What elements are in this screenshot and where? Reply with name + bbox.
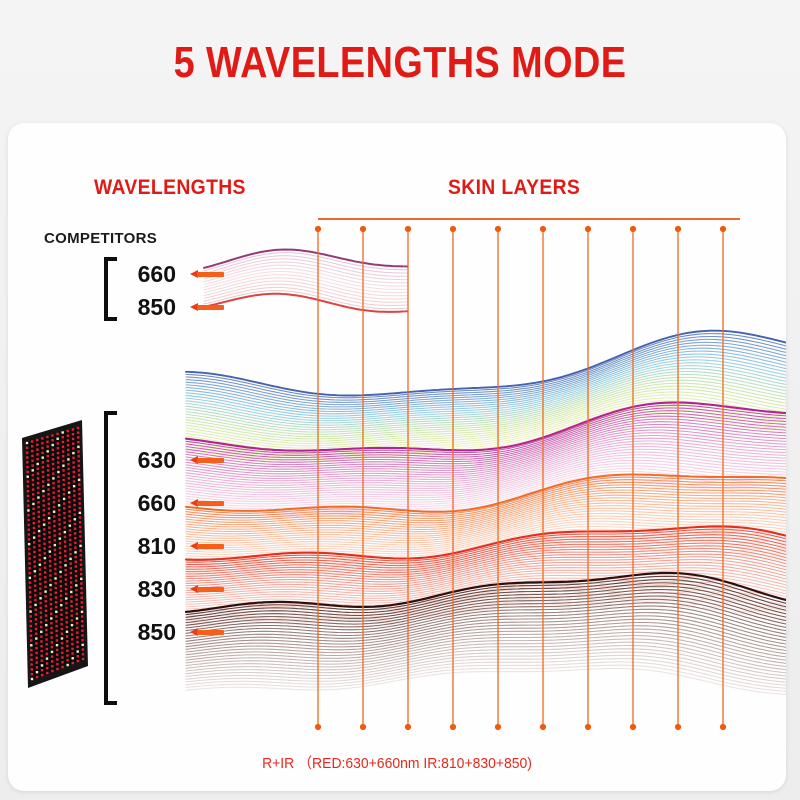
led-dot — [36, 453, 38, 455]
led-dot — [75, 579, 77, 581]
led-dot — [71, 614, 73, 616]
led-dot — [52, 472, 54, 474]
led-dot — [49, 584, 51, 586]
led-dot — [60, 613, 62, 615]
led-dot — [62, 465, 64, 467]
led-dot — [67, 430, 69, 432]
led-dot — [61, 628, 63, 630]
led-dot — [55, 601, 57, 603]
left-arrow-icon — [190, 270, 224, 278]
led-dot — [43, 528, 45, 530]
competitors-bracket-icon — [104, 257, 117, 321]
led-dot — [38, 535, 40, 537]
led-dot — [74, 537, 76, 539]
led-dot — [35, 613, 37, 615]
wavelength-value: 630 — [120, 447, 176, 473]
led-dot — [28, 562, 30, 564]
led-dot — [63, 483, 65, 485]
led-dot — [29, 596, 31, 598]
wavelength-row-card.product_wavelengths-850: 850 — [120, 619, 224, 645]
led-dot — [70, 596, 72, 598]
led-dot — [49, 579, 51, 581]
led-dot — [56, 634, 58, 636]
led-dot — [74, 546, 76, 548]
led-dot — [51, 439, 53, 441]
led-dot — [72, 461, 74, 463]
led-dot — [73, 466, 75, 468]
led-dot — [55, 587, 57, 589]
led-dot — [56, 668, 58, 670]
led-dot — [63, 479, 65, 481]
led-dot — [44, 552, 46, 554]
led-dot — [30, 639, 32, 641]
led-dot — [72, 433, 74, 435]
led-dot — [60, 594, 62, 596]
led-dot — [60, 599, 62, 601]
led-dot — [78, 502, 80, 504]
led-dot — [81, 630, 83, 632]
led-dot — [74, 532, 76, 534]
led-dot — [31, 460, 33, 462]
led-dot — [49, 570, 51, 572]
led-dot — [72, 657, 74, 659]
gridline-endpoint-dot — [585, 226, 591, 232]
led-dot — [31, 440, 33, 442]
wavelength-row-card.competitor_wavelengths-660: 660 — [120, 261, 224, 287]
led-dot — [81, 611, 83, 613]
led-dot — [32, 498, 34, 500]
led-dot — [52, 453, 54, 455]
led-dot — [58, 495, 60, 497]
led-dot — [48, 522, 50, 524]
led-dot — [41, 447, 43, 449]
led-dot — [76, 636, 78, 638]
led-dot — [33, 536, 35, 538]
gridline-endpoint-dot — [720, 226, 726, 232]
led-dot — [57, 476, 59, 478]
led-dot — [42, 471, 44, 473]
led-dot — [32, 469, 34, 471]
led-dot — [60, 618, 62, 620]
led-dot — [72, 662, 74, 664]
led-dot — [35, 652, 37, 654]
led-dot — [50, 632, 52, 634]
led-dot — [60, 604, 62, 606]
led-dot — [45, 634, 47, 636]
led-dot — [78, 483, 80, 485]
led-dot — [48, 507, 50, 509]
led-dot — [59, 571, 61, 573]
led-dot — [67, 664, 69, 666]
led-dot — [29, 591, 31, 593]
led-dot — [44, 562, 46, 564]
led-dot — [60, 580, 62, 582]
gridline-endpoint-dot — [495, 724, 501, 730]
led-dot — [45, 600, 47, 602]
led-dot — [59, 533, 61, 535]
led-dot — [40, 616, 42, 618]
led-dot — [68, 496, 70, 498]
led-dot — [80, 559, 82, 561]
led-dot — [29, 610, 31, 612]
led-panel-icon — [16, 416, 94, 692]
led-dot — [35, 642, 37, 644]
column-header-wavelengths: WAVELENGTHS — [94, 176, 246, 200]
led-dot — [27, 500, 29, 502]
led-dot — [58, 528, 60, 530]
led-dot — [36, 439, 38, 441]
led-dot — [43, 519, 45, 521]
led-dot — [26, 456, 28, 458]
led-dot — [51, 660, 53, 662]
led-dot — [79, 549, 81, 551]
gridline-endpoint-dot — [630, 226, 636, 232]
led-dot — [26, 442, 28, 444]
led-dot — [49, 574, 51, 576]
led-dot — [40, 635, 42, 637]
left-arrow-icon — [190, 303, 224, 311]
content-card: WAVELENGTHS SKIN LAYERS COMPETITORS 6608… — [8, 123, 786, 791]
led-dot — [32, 479, 34, 481]
led-dot — [55, 596, 57, 598]
led-dot — [49, 565, 51, 567]
led-dot — [38, 540, 40, 542]
led-dot — [30, 649, 32, 651]
led-dot — [35, 637, 37, 639]
wavelength-value: 850 — [120, 619, 176, 645]
led-dot — [64, 569, 66, 571]
led-dot — [61, 637, 63, 639]
led-dot — [69, 529, 71, 531]
led-dot — [81, 601, 83, 603]
led-dot — [55, 606, 57, 608]
led-dot — [45, 619, 47, 621]
led-dot — [63, 502, 65, 504]
led-dot — [51, 641, 53, 643]
led-dot — [34, 599, 36, 601]
led-dot — [56, 654, 58, 656]
led-dot — [72, 447, 74, 449]
led-dot — [70, 605, 72, 607]
led-dot — [80, 582, 82, 584]
left-arrow-icon — [190, 628, 224, 636]
led-dot — [32, 484, 34, 486]
gridline-endpoint-dot — [675, 724, 681, 730]
led-dot — [69, 558, 71, 560]
led-dot — [34, 565, 36, 567]
led-dot — [76, 641, 78, 643]
led-dot — [27, 485, 29, 487]
led-dot — [63, 521, 65, 523]
led-dot — [31, 678, 33, 680]
led-dot — [81, 644, 83, 646]
gridline-endpoint-dot — [540, 226, 546, 232]
led-dot — [40, 650, 42, 652]
led-dot — [37, 472, 39, 474]
led-dot — [64, 550, 66, 552]
led-dot — [32, 512, 34, 514]
page-root: 5 WAVELENGTHS MODE — [0, 0, 800, 800]
led-dot — [78, 474, 80, 476]
led-dot — [77, 441, 79, 443]
gridline-endpoint-dot — [720, 724, 726, 730]
led-dot — [57, 452, 59, 454]
led-dot — [52, 458, 54, 460]
led-dot — [58, 490, 60, 492]
left-arrow-icon — [190, 499, 224, 507]
led-dot — [55, 592, 57, 594]
led-dot — [28, 553, 30, 555]
led-dot — [67, 449, 69, 451]
led-dot — [72, 452, 74, 454]
led-dot — [56, 658, 58, 660]
led-dot — [52, 444, 54, 446]
led-dot — [53, 501, 55, 503]
led-dot — [51, 434, 53, 436]
led-dot — [67, 468, 69, 470]
led-dot — [64, 531, 66, 533]
led-dot — [26, 466, 28, 468]
led-dot — [73, 476, 75, 478]
led-dot — [57, 442, 59, 444]
wavelength-value: 660 — [120, 490, 176, 516]
led-dot — [44, 581, 46, 583]
led-dot — [68, 477, 70, 479]
led-dot — [62, 446, 64, 448]
led-dot — [37, 501, 39, 503]
led-dot — [28, 538, 30, 540]
led-dot — [74, 523, 76, 525]
left-arrow-icon — [190, 585, 224, 593]
led-dot — [52, 463, 54, 465]
led-dot — [74, 556, 76, 558]
column-header-skin-layers: SKIN LAYERS — [448, 176, 580, 200]
led-dot — [81, 634, 83, 636]
led-dot — [69, 562, 71, 564]
gridline-endpoint-dot — [450, 724, 456, 730]
led-dot — [27, 495, 29, 497]
led-dot — [61, 642, 63, 644]
led-dot — [71, 643, 73, 645]
led-dot — [39, 578, 41, 580]
led-dot — [81, 615, 83, 617]
led-dot — [42, 480, 44, 482]
led-dot — [48, 541, 50, 543]
led-dot — [71, 652, 73, 654]
led-dot — [53, 506, 55, 508]
led-dot — [43, 538, 45, 540]
gridline-endpoint-dot — [630, 724, 636, 730]
led-dot — [78, 498, 80, 500]
led-dot — [28, 524, 30, 526]
led-dot — [36, 666, 38, 668]
led-dot — [64, 526, 66, 528]
led-dot — [29, 615, 31, 617]
led-dot — [40, 621, 42, 623]
led-dot — [33, 546, 35, 548]
led-dot — [76, 617, 78, 619]
led-dot — [65, 602, 67, 604]
led-dot — [80, 554, 82, 556]
gridline-endpoint-dot — [495, 226, 501, 232]
led-dot — [66, 654, 68, 656]
gridline-endpoint-dot — [675, 226, 681, 232]
led-dot — [73, 485, 75, 487]
led-dot — [55, 630, 57, 632]
led-dot — [36, 444, 38, 446]
led-dot — [60, 609, 62, 611]
gridline-endpoint-dot — [405, 724, 411, 730]
led-dot — [58, 499, 60, 501]
led-dot — [34, 609, 36, 611]
led-dot — [36, 448, 38, 450]
led-dot — [27, 519, 29, 521]
led-dot — [42, 461, 44, 463]
led-dot — [71, 624, 73, 626]
led-dot — [78, 479, 80, 481]
led-dot — [57, 480, 59, 482]
led-dot — [43, 543, 45, 545]
led-dot — [46, 672, 48, 674]
led-dot — [54, 563, 56, 565]
led-dot — [73, 509, 75, 511]
led-dot — [79, 545, 81, 547]
led-dot — [43, 514, 45, 516]
led-dot — [30, 634, 32, 636]
led-dot — [54, 549, 56, 551]
led-dot — [51, 665, 53, 667]
led-dot — [42, 490, 44, 492]
led-dot — [69, 553, 71, 555]
led-dot — [75, 584, 77, 586]
led-dot — [33, 560, 35, 562]
led-dot — [70, 577, 72, 579]
led-dot — [48, 503, 50, 505]
led-dot — [69, 524, 71, 526]
led-dot — [57, 447, 59, 449]
led-dot — [53, 525, 55, 527]
led-dot — [77, 650, 79, 652]
led-dot — [47, 493, 49, 495]
led-dot — [71, 629, 73, 631]
led-dot — [41, 659, 43, 661]
gridline-endpoint-dot — [540, 724, 546, 730]
led-dot — [59, 552, 61, 554]
led-dot — [68, 472, 70, 474]
led-dot — [76, 646, 78, 648]
page-title: 5 WAVELENGTHS MODE — [56, 38, 744, 88]
led-dot — [31, 464, 33, 466]
competitors-label: COMPETITORS — [44, 230, 157, 247]
led-dot — [79, 516, 81, 518]
led-dot — [64, 540, 66, 542]
led-dot — [66, 659, 68, 661]
led-dot — [41, 442, 43, 444]
led-dot — [33, 522, 35, 524]
wavelength-row-card.product_wavelengths-630: 630 — [120, 447, 224, 473]
led-dot — [70, 581, 72, 583]
led-dot — [59, 575, 61, 577]
led-dot — [54, 544, 56, 546]
led-dot — [45, 614, 47, 616]
led-dot — [72, 442, 74, 444]
led-dot — [78, 460, 80, 462]
led-dot — [37, 496, 39, 498]
led-dot — [66, 645, 68, 647]
led-dot — [65, 616, 67, 618]
led-dot — [58, 514, 60, 516]
led-dot — [29, 572, 31, 574]
led-dot — [47, 460, 49, 462]
led-dot — [54, 558, 56, 560]
led-dot — [62, 455, 64, 457]
led-dot — [54, 539, 56, 541]
led-dot — [76, 631, 78, 633]
led-dot — [41, 452, 43, 454]
led-dot — [28, 557, 30, 559]
led-dot — [66, 635, 68, 637]
led-dot — [42, 466, 44, 468]
led-dot — [38, 544, 40, 546]
led-dot — [27, 476, 29, 478]
led-dot — [39, 587, 41, 589]
led-dot — [30, 625, 32, 627]
led-dot — [42, 456, 44, 458]
led-dot — [77, 450, 79, 452]
led-dot — [76, 627, 78, 629]
led-dot — [50, 622, 52, 624]
led-dot — [50, 598, 52, 600]
wavelength-value: 660 — [120, 261, 176, 287]
led-dot — [72, 438, 74, 440]
led-dot — [75, 589, 77, 591]
led-dot — [33, 556, 35, 558]
led-dot — [59, 566, 61, 568]
led-dot — [67, 439, 69, 441]
led-dot — [57, 466, 59, 468]
led-dot — [75, 570, 77, 572]
led-dot — [69, 534, 71, 536]
led-dot — [81, 606, 83, 608]
led-dot — [54, 553, 56, 555]
led-dot — [40, 607, 42, 609]
wavelength-value: 850 — [120, 294, 176, 320]
led-dot — [56, 663, 58, 665]
led-dot — [41, 669, 43, 671]
led-dot — [48, 512, 50, 514]
led-dot — [82, 648, 84, 650]
led-dot — [37, 487, 39, 489]
led-dot — [28, 543, 30, 545]
led-dot — [59, 542, 61, 544]
led-dot — [45, 624, 47, 626]
led-dot — [53, 491, 55, 493]
led-dot — [39, 573, 41, 575]
led-dot — [52, 482, 54, 484]
led-dot — [28, 567, 30, 569]
led-dot — [63, 517, 65, 519]
led-dot — [46, 445, 48, 447]
led-dot — [27, 514, 29, 516]
led-dot — [78, 469, 80, 471]
led-dot — [28, 528, 30, 530]
wavelength-row-card.product_wavelengths-830: 830 — [120, 576, 224, 602]
led-dot — [41, 674, 43, 676]
led-dot — [26, 461, 28, 463]
led-dot — [44, 586, 46, 588]
led-dot — [77, 660, 79, 662]
led-dot — [80, 592, 82, 594]
